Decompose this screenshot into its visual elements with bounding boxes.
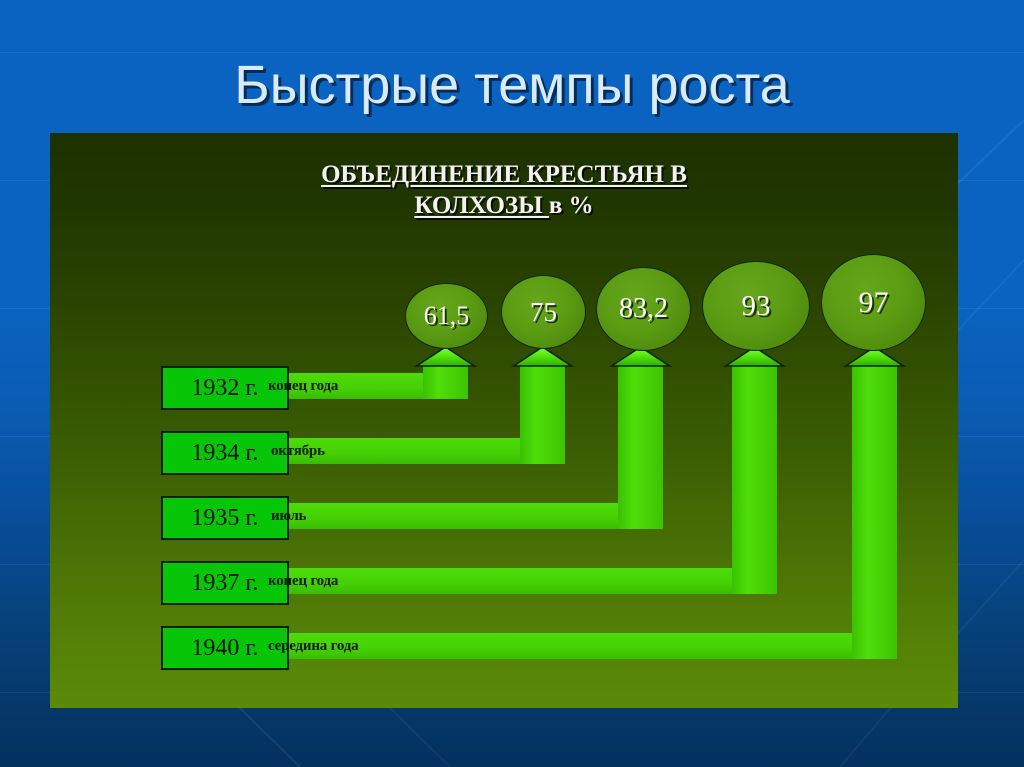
year-box-1934г: 1934 г.: [161, 431, 289, 475]
page-title: Быстрые темпы роста: [0, 54, 1024, 116]
value-bubble-1935г: 83,2: [596, 267, 691, 351]
bubble-value-label: 97: [859, 288, 889, 318]
period-label-2: октябрь: [271, 444, 325, 459]
arrow-head-icon: [514, 347, 572, 366]
year-box-1935г: 1935 г.: [161, 496, 289, 540]
value-bubble-1940г: 97: [821, 254, 926, 351]
year-label: 1940 г.: [191, 636, 258, 660]
slide-canvas: Быстрые темпы роста ОБЪЕДИНЕНИЕ КРЕСТЬЯН…: [0, 0, 1024, 767]
period-label-4: конец года: [268, 574, 338, 589]
arrow-head-icon: [417, 347, 475, 366]
bubble-value-label: 93: [742, 292, 771, 321]
year-label: 1937 г.: [191, 571, 258, 595]
value-bubble-1934г: 75: [501, 275, 586, 349]
chart-panel: ОБЪЕДИНЕНИЕ КРЕСТЬЯН В КОЛХОЗЫ в %: [50, 133, 958, 708]
bubble-value-label: 83,2: [619, 295, 668, 323]
bubble-value-label: 75: [530, 299, 557, 326]
period-label-1: конец года: [268, 379, 338, 394]
value-bubble-1932г: 61,5: [405, 283, 488, 349]
year-label: 1935 г.: [191, 506, 258, 530]
bubble-value-label: 61,5: [424, 303, 470, 329]
year-label: 1934 г.: [191, 441, 258, 465]
arrow-flow-diagram: [50, 133, 958, 708]
year-label: 1932 г.: [191, 376, 258, 400]
value-bubble-1937г: 93: [702, 261, 810, 351]
period-label-3: июль: [271, 509, 306, 524]
period-label-5: середина года: [268, 639, 358, 654]
